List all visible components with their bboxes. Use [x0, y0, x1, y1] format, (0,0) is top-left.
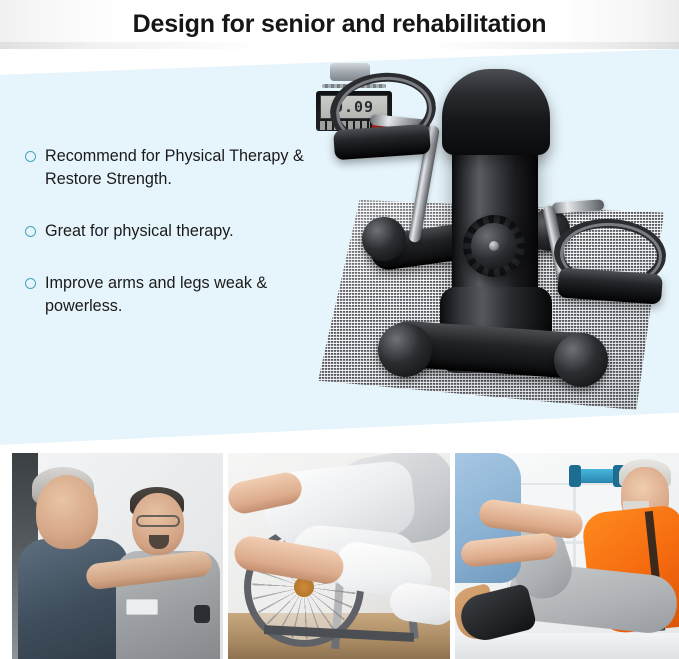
bullet-text: Great for physical therapy. — [45, 220, 234, 243]
photo1-name-badge — [126, 599, 158, 615]
rear-left-foot-cap — [362, 217, 406, 261]
page-title: Design for senior and rehabilitation — [0, 0, 679, 49]
photo1-wristwatch — [194, 605, 210, 623]
photo-orange-shirt-leg-therapy — [455, 453, 679, 659]
photo-senior-arm-therapy — [12, 453, 223, 659]
photo-strip — [0, 453, 679, 659]
product-image: 0.09 — [300, 55, 679, 415]
tension-knob-center-screw — [489, 241, 499, 251]
tension-knob[interactable] — [463, 215, 525, 277]
photo3-dumbbell-weight-left — [569, 465, 581, 487]
feature-bullet-list: Recommend for Physical Therapy & Restore… — [25, 145, 325, 347]
circle-bullet-icon — [25, 151, 36, 162]
bullet-text: Improve arms and legs weak & powerless. — [45, 272, 325, 318]
lcd-monitor-housing — [442, 69, 550, 155]
photo1-senior-torso — [18, 539, 128, 659]
left-pedal — [333, 124, 431, 161]
list-item: Great for physical therapy. — [25, 220, 325, 243]
list-item: Improve arms and legs weak & powerless. — [25, 272, 325, 318]
photo1-senior-head — [36, 475, 98, 549]
front-left-foot-cap — [378, 323, 432, 377]
list-item: Recommend for Physical Therapy & Restore… — [25, 145, 325, 191]
circle-bullet-icon — [25, 226, 36, 237]
circle-bullet-icon — [25, 278, 36, 289]
bullet-text: Recommend for Physical Therapy & Restore… — [45, 145, 325, 191]
photo-wheelchair-leg-therapy — [228, 453, 450, 659]
photo1-eyeglasses — [136, 515, 180, 527]
front-right-foot-cap — [554, 333, 608, 387]
